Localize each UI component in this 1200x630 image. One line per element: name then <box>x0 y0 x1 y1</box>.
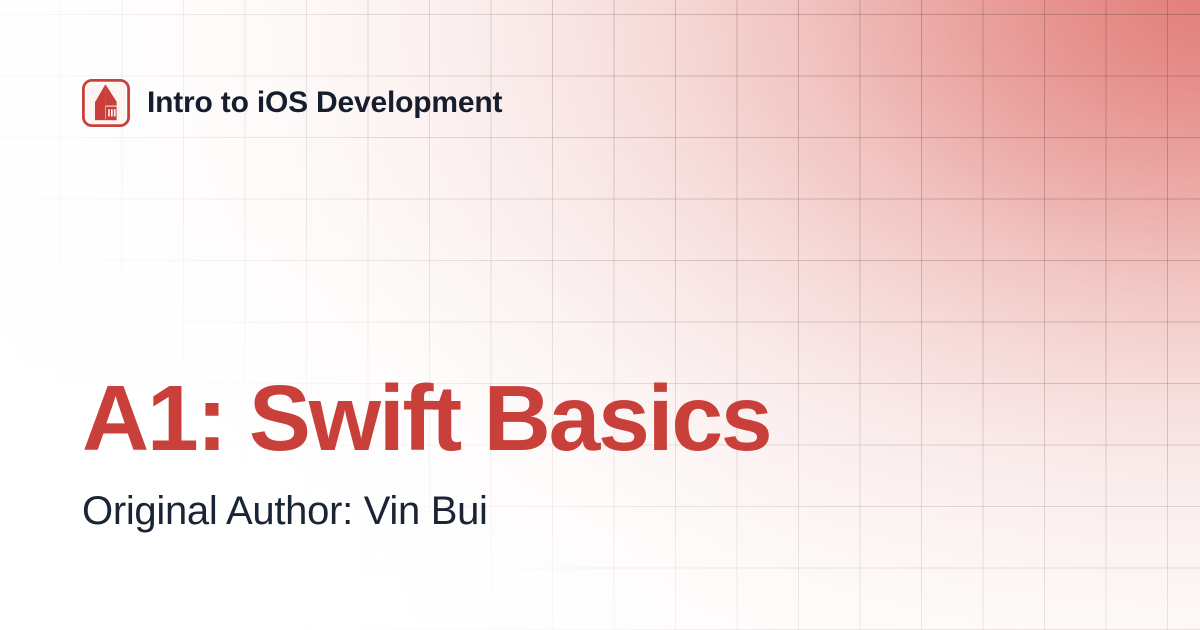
brand-lockup: Intro to iOS Development <box>82 79 502 127</box>
slide-canvas: Intro to iOS Development A1: Swift Basic… <box>0 0 1200 630</box>
campanile-tower-badge-icon <box>82 79 130 127</box>
author-credit: Original Author: Vin Bui <box>82 491 770 531</box>
lecture-title: A1: Swift Basics <box>82 372 770 465</box>
title-block: A1: Swift Basics Original Author: Vin Bu… <box>82 372 770 531</box>
slide-content: Intro to iOS Development A1: Swift Basic… <box>0 0 1200 630</box>
course-title: Intro to iOS Development <box>147 88 502 118</box>
